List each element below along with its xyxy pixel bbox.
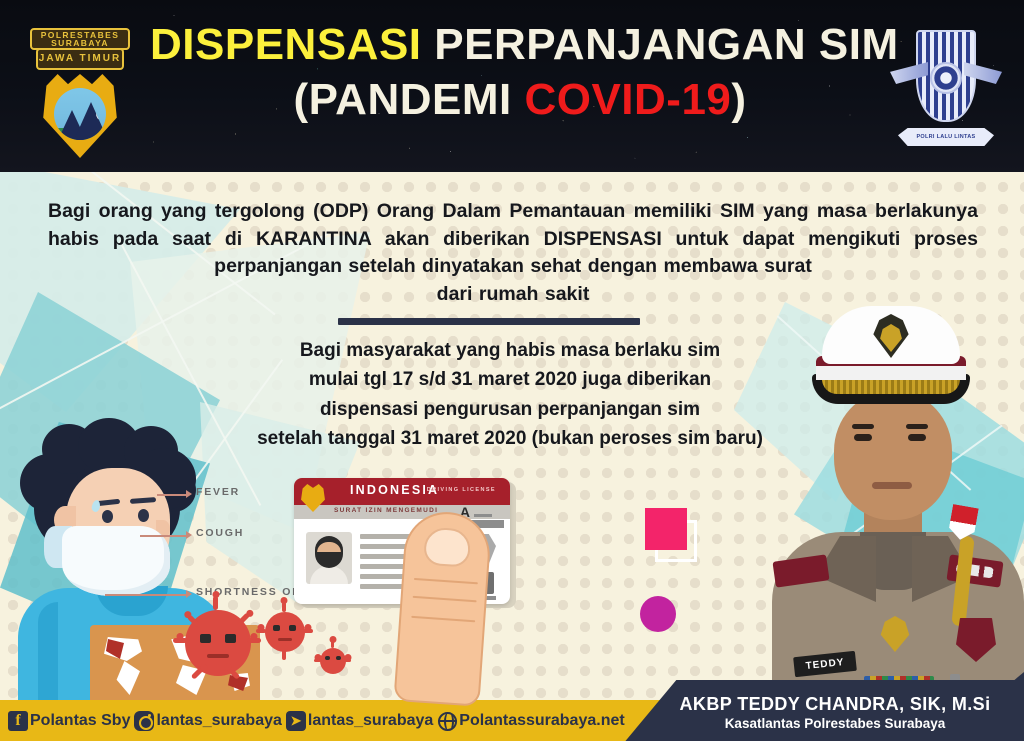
- officer-eye-left: [854, 434, 872, 441]
- twitter-icon: ➤: [286, 711, 306, 731]
- pointing-thumb-illustration: [393, 509, 492, 707]
- social-links-bar: f Polantas Sby lantas_surabaya ➤ lantas_…: [8, 707, 629, 735]
- instagram-icon: [134, 711, 154, 731]
- title-pandemi-open: (PANDEMI: [293, 75, 524, 124]
- virus-character-small: [320, 648, 346, 674]
- world-map-region-2: [114, 661, 140, 695]
- badge-mountain-right: [74, 102, 106, 140]
- symptom-leader-line-cough: [140, 535, 188, 537]
- virus-eye-left: [325, 656, 330, 660]
- social-link-instagram[interactable]: lantas_surabaya: [134, 711, 281, 731]
- virus-spike: [314, 659, 321, 662]
- virus-spike: [344, 659, 351, 662]
- virus-character-medium: [265, 612, 305, 652]
- section-divider: [338, 318, 640, 325]
- license-card-class-underline: [474, 514, 492, 517]
- virus-spike: [282, 650, 286, 660]
- virus-spike: [173, 638, 187, 643]
- badge-ribbon-bottom: JAWA TIMUR: [36, 48, 124, 70]
- officer-credit-name: AKBP TEDDY CHANDRA, SIK, M.Si: [646, 694, 1024, 715]
- virus-spike: [331, 641, 334, 648]
- title-rest: PERPANJANGAN SIM: [434, 20, 898, 69]
- polrestabes-surabaya-badge: POLRESTABES SURABAYA JAWA TIMUR: [22, 22, 138, 160]
- virus-eye-right: [336, 656, 341, 660]
- thumb-crease-2: [413, 596, 477, 602]
- title-highlight-dispensasi: DISPENSASI: [150, 20, 422, 69]
- social-label-website: Polantassurabaya.net: [459, 712, 624, 730]
- virus-eye-right: [289, 625, 296, 631]
- virus-eye-left: [273, 625, 280, 631]
- officer-hat-white-band: [816, 366, 966, 380]
- symptom-label-cough: COUGH: [196, 527, 244, 539]
- virus-mouth: [278, 638, 292, 641]
- social-label-instagram: lantas_surabaya: [156, 712, 281, 730]
- virus-eye-left: [200, 634, 211, 643]
- license-photo-shoulders: [310, 566, 348, 584]
- virus-mouth: [207, 654, 229, 658]
- title-covid-highlight: COVID-19: [524, 75, 731, 124]
- social-label-twitter: lantas_surabaya: [308, 712, 433, 730]
- poster-header: POLRESTABES SURABAYA JAWA TIMUR DISPENSA…: [0, 0, 1024, 172]
- page-title: DISPENSASI PERPANJANGAN SIM (PANDEMI COV…: [150, 22, 890, 123]
- decorative-circle: [640, 596, 676, 632]
- facebook-icon: f: [8, 711, 28, 731]
- social-link-facebook[interactable]: f Polantas Sby: [8, 711, 130, 731]
- paragraph-1-text: Bagi orang yang tergolong (ODP) Orang Da…: [48, 200, 978, 277]
- social-link-twitter[interactable]: ➤ lantas_surabaya: [286, 711, 433, 731]
- korlantas-police-badge: POLRI LALU LINTAS: [892, 28, 1000, 148]
- virus-spike: [303, 629, 313, 633]
- license-card-english-label: DRIVING LICENSE: [427, 487, 496, 493]
- symptom-arrow-cough: [186, 531, 192, 539]
- title-pandemi-close: ): [731, 75, 746, 124]
- thumb-nail: [423, 527, 472, 568]
- officer-credit-block: AKBP TEDDY CHANDRA, SIK, M.Si Kasatlanta…: [646, 694, 1024, 731]
- officer-eyebrow-left: [852, 424, 874, 429]
- social-label-facebook: Polantas Sby: [30, 712, 130, 730]
- person-eye-right: [138, 509, 149, 522]
- virus-character-large: [185, 610, 251, 676]
- officer-face: [834, 392, 952, 520]
- badge-volcano-emblem: [54, 88, 106, 140]
- thumb-crease-1: [414, 578, 478, 584]
- symptom-label-fever: FEVER: [196, 486, 240, 498]
- symptom-leader-line-breath: [105, 594, 188, 596]
- person-body-shading: [38, 602, 58, 706]
- symptom-arrow-breath: [186, 590, 192, 598]
- social-link-website[interactable]: Polantassurabaya.net: [437, 711, 624, 731]
- badge-volcano-smoke: [96, 104, 106, 120]
- virus-spike: [213, 596, 218, 610]
- police-badge-center-emblem: [930, 62, 962, 94]
- announcement-paragraph-1: Bagi orang yang tergolong (ODP) Orang Da…: [48, 198, 978, 309]
- badge-ribbon-top: POLRESTABES SURABAYA: [30, 28, 130, 50]
- decorative-square-filled: [645, 508, 687, 550]
- officer-mouth: [872, 482, 912, 489]
- virus-spike: [256, 629, 266, 633]
- poster-canvas: POLRESTABES SURABAYA JAWA TIMUR DISPENSA…: [0, 0, 1024, 741]
- virus-spike: [282, 602, 286, 612]
- person-eye-left: [102, 510, 113, 523]
- symptom-arrow-fever: [186, 490, 192, 498]
- officer-eye-right: [908, 434, 926, 441]
- license-card-photo: [306, 532, 352, 584]
- license-photo-beard: [315, 552, 343, 568]
- police-badge-ribbon: POLRI LALU LINTAS: [898, 128, 994, 146]
- virus-spike: [247, 638, 261, 643]
- globe-icon: [437, 711, 457, 731]
- symptom-leader-line-fever: [157, 494, 189, 496]
- officer-eyebrow-right: [906, 424, 928, 429]
- officer-credit-role: Kasatlantas Polrestabes Surabaya: [646, 716, 1024, 731]
- virus-eye-right: [225, 634, 236, 643]
- thumb-crease-3: [411, 616, 475, 622]
- license-card-subtitle: SURAT IZIN MENGEMUDI: [334, 507, 438, 514]
- officer-portrait: TEDDY: [760, 300, 1024, 700]
